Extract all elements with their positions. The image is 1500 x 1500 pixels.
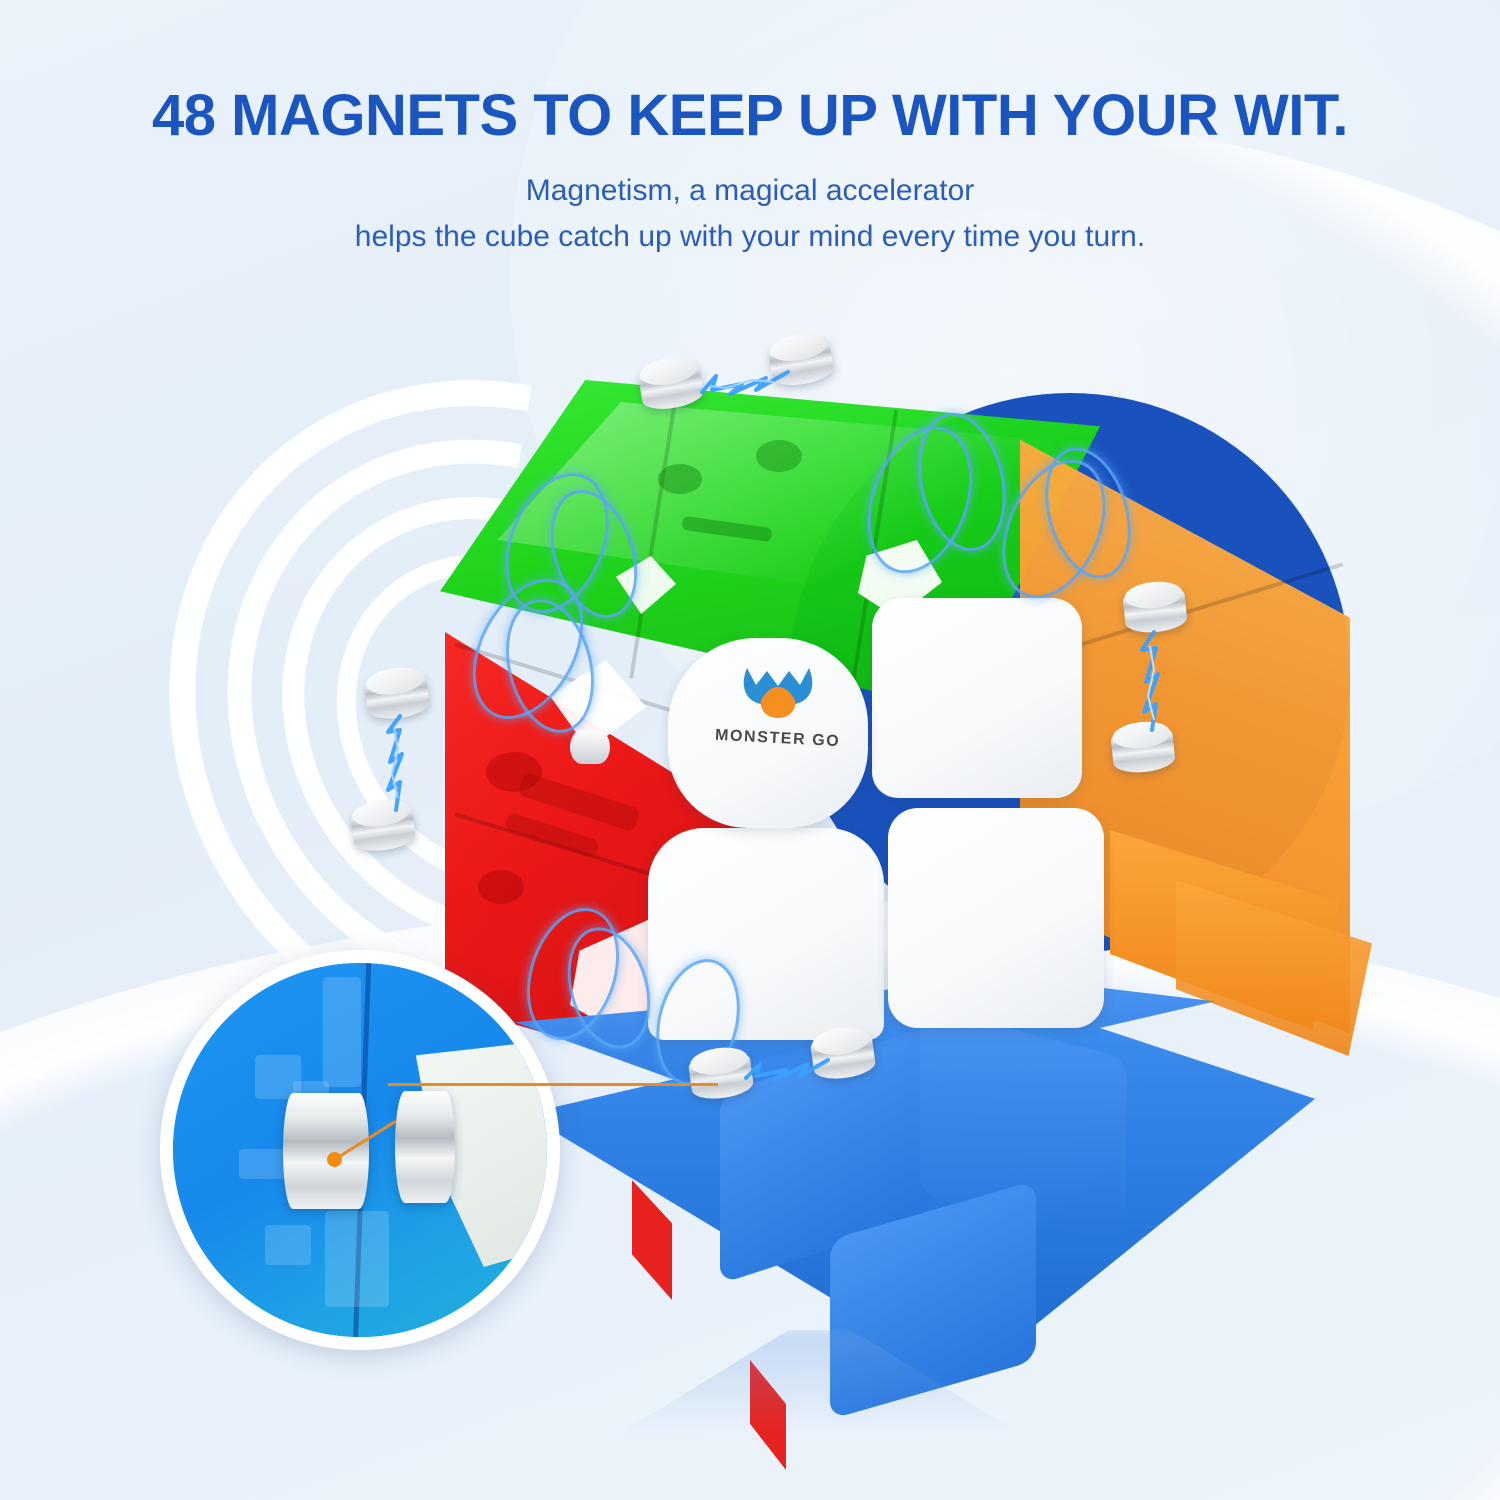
product-marketing-banner: 48 MAGNETS TO KEEP UP WITH YOUR WIT. Mag… (0, 0, 1500, 1500)
cube-white-tile-bottom-right (888, 808, 1104, 1028)
callout-dot (327, 1152, 342, 1167)
cube-white-tile-top-right (872, 598, 1082, 798)
callout-line-outer (388, 1083, 718, 1086)
magnifier-magnet-left (283, 1093, 369, 1209)
cube-internal-post-green-2 (756, 440, 802, 472)
magnet-spark-icon (370, 710, 432, 820)
magnet-closeup-inset (160, 950, 560, 1350)
magnifier-plastic-notch-6 (323, 977, 361, 1087)
magnet-spark-icon (696, 360, 806, 420)
page-subtitle: Magnetism, a magical accelerator helps t… (0, 168, 1500, 259)
magnetic-speed-cube: MONSTER GO (420, 360, 1380, 1360)
page-headline: 48 MAGNETS TO KEEP UP WITH YOUR WIT. (0, 82, 1500, 149)
magnet-spark-icon (1126, 626, 1188, 741)
monster-go-mark-icon (739, 660, 817, 726)
magnifier-plastic-notch-4 (265, 1225, 311, 1265)
magnifier-plastic-notch-5 (325, 1211, 389, 1307)
brand-logo: MONSTER GO (708, 660, 848, 784)
subtitle-line-1: Magnetism, a magical accelerator (0, 168, 1500, 214)
brand-wordmark: MONSTER GO (715, 727, 841, 752)
subtitle-line-2: helps the cube catch up with your mind e… (0, 214, 1500, 260)
cube-internal-post-green-1 (658, 464, 702, 494)
magnifier-magnet-right (395, 1091, 455, 1203)
cube-internal-magnet-red (570, 730, 610, 764)
cube-internal-post-red-2 (478, 870, 524, 904)
magnet-spark-icon (742, 1048, 842, 1104)
